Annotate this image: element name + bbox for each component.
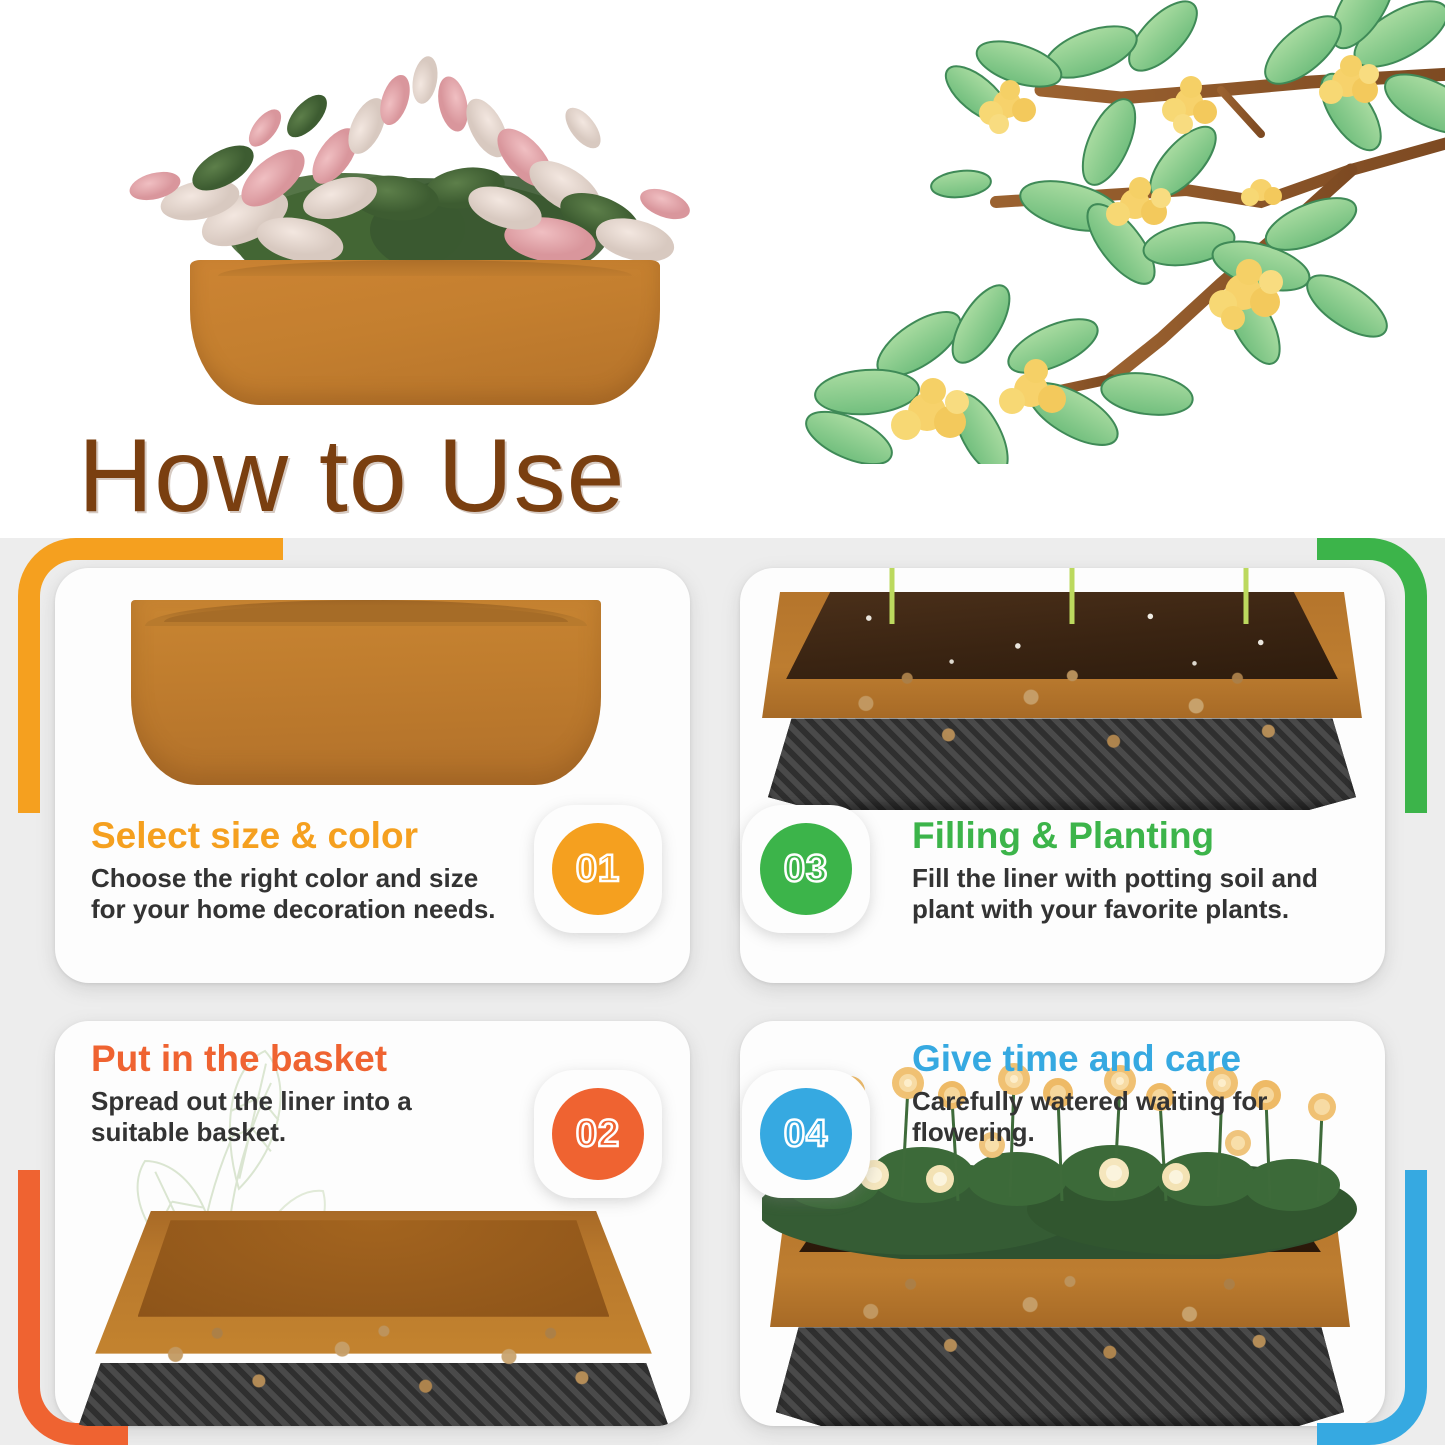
- step-01-description: Choose the right color and size for your…: [91, 863, 561, 924]
- step-04-badge: 04: [760, 1088, 852, 1180]
- hero-section: How to Use: [0, 0, 1445, 538]
- step-01-badge: 01: [552, 823, 644, 915]
- step-01-title: Select size & color: [91, 816, 561, 855]
- step-03-badge: 03: [760, 823, 852, 915]
- step-03-desc-line-2: plant with your favorite plants.: [912, 894, 1382, 925]
- step-03-badge-pad: 03: [742, 805, 870, 933]
- step-01-desc-line-2: for your home decoration needs.: [91, 894, 561, 925]
- step-04-desc-line-1: Carefully watered waiting for: [912, 1086, 1382, 1117]
- hero-planter-body: [190, 260, 660, 405]
- step-03-product-image: [762, 592, 1362, 810]
- step-01-badge-pad: 01: [534, 805, 662, 933]
- step-03-desc-line-1: Fill the liner with potting soil and: [912, 863, 1382, 894]
- seedling-icon-3: [1214, 568, 1278, 624]
- step-02-badge: 02: [552, 1088, 644, 1180]
- step-03-title: Filling & Planting: [912, 816, 1382, 855]
- page-title: How to Use: [78, 424, 626, 528]
- step-04-desc-line-2: flowering.: [912, 1117, 1382, 1148]
- step-01-desc-line-1: Choose the right color and size: [91, 863, 561, 894]
- step-04-badge-pad: 04: [742, 1070, 870, 1198]
- step-02-badge-pad: 02: [534, 1070, 662, 1198]
- seedling-icon-1: [860, 568, 924, 624]
- step-02-description: Spread out the liner into a suitable bas…: [91, 1086, 561, 1147]
- step-04-title: Give time and care: [912, 1039, 1382, 1078]
- steps-grid: Select size & color Choose the right col…: [0, 538, 1445, 1445]
- hero-planter-photo: [95, 8, 735, 408]
- step-04-description: Carefully watered waiting for flowering.: [912, 1086, 1382, 1147]
- step-02-desc-line-1: Spread out the liner into a: [91, 1086, 561, 1117]
- infographic-page: How to Use Select size & color Choose th…: [0, 0, 1445, 1445]
- step-02-desc-line-2: suitable basket.: [91, 1117, 561, 1148]
- step-02-title: Put in the basket: [91, 1039, 561, 1078]
- osmanthus-branch-icon: [791, 0, 1445, 464]
- seedling-icon-2: [1040, 568, 1104, 624]
- step-01-product-image: [131, 600, 601, 785]
- step-02-product-image: [71, 1211, 676, 1426]
- step-03-description: Fill the liner with potting soil and pla…: [912, 863, 1382, 924]
- step-04-product-image: [770, 1191, 1350, 1426]
